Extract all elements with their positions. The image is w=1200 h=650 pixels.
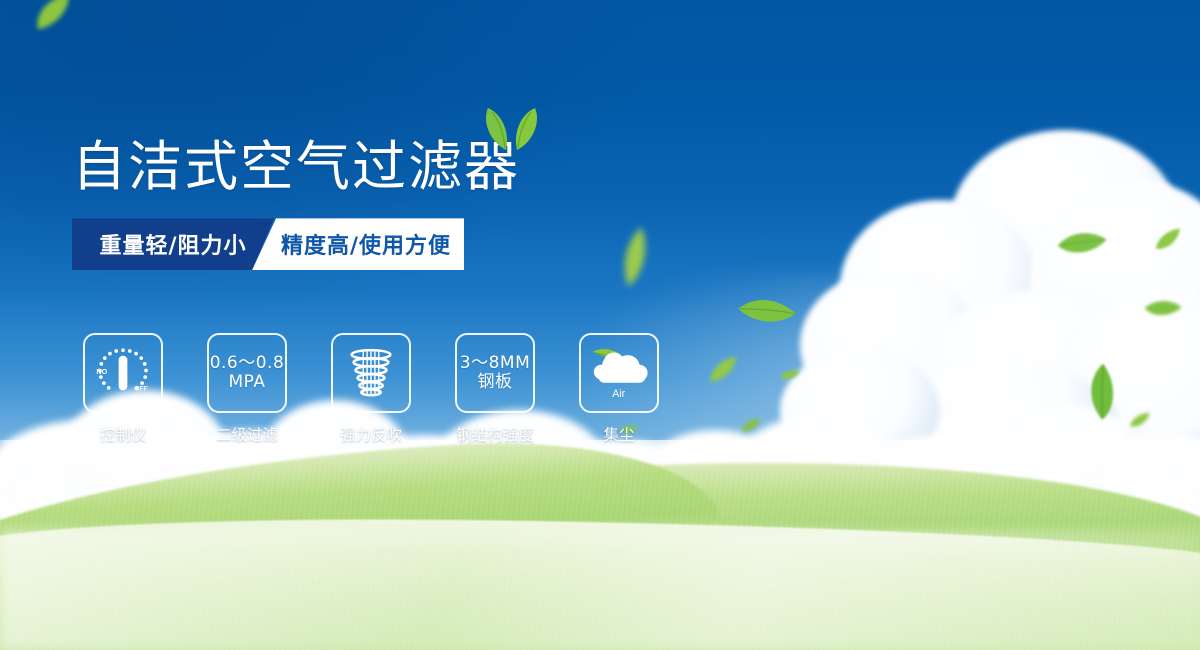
feature-item-blowback: 强力反吹 xyxy=(322,333,420,445)
feature-box: 0.6～0.8 MPA xyxy=(207,333,287,413)
badge-lightweight-low-resistance: 重量轻/阻力小 xyxy=(72,218,274,270)
sprout-leaves-icon xyxy=(476,106,546,150)
feature-box: Air xyxy=(579,333,659,413)
air-cloud-icon: Air xyxy=(585,342,653,404)
feature-item-controller: NO OFF 控制仪 xyxy=(74,333,172,445)
tagline-badges: 重量轻/阻力小 精度高/使用方便 xyxy=(72,218,464,270)
feature-item-steel-strength: 3～8MM 钢板 钢结构强度 xyxy=(446,333,544,445)
grass-field xyxy=(0,440,1200,650)
pressure-text-icon: 0.6～0.8 MPA xyxy=(210,354,285,392)
page-title: 自洁式空气过滤器 xyxy=(72,138,732,196)
badge-light-label: 精度高/使用方便 xyxy=(281,228,451,260)
air-caption: Air xyxy=(612,388,625,400)
banner-content: 自洁式空气过滤器 重量轻/阻力小 精度高/使用方便 xyxy=(72,138,732,270)
feature-list: NO OFF 控制仪 0.6～0.8 MPA 二级过滤 xyxy=(74,333,668,445)
floating-leaf xyxy=(739,417,762,433)
product-banner: 自洁式空气过滤器 重量轻/阻力小 精度高/使用方便 xyxy=(0,0,1200,650)
feature-box: 3～8MM 钢板 xyxy=(455,333,535,413)
feature-label: 集尘 xyxy=(603,423,634,445)
feature-item-secondary-filtration: 0.6～0.8 MPA 二级过滤 xyxy=(198,333,296,445)
svg-text:NO: NO xyxy=(96,367,107,376)
feature-label: 二级过滤 xyxy=(216,423,278,445)
coil-blowback-icon xyxy=(340,342,402,404)
svg-text:OFF: OFF xyxy=(134,385,148,392)
feature-label: 钢结构强度 xyxy=(456,423,534,445)
grass-texture xyxy=(0,440,1200,650)
pressure-range: 0.6～0.8 xyxy=(210,353,285,373)
feature-label: 控制仪 xyxy=(100,423,147,445)
pressure-unit: MPA xyxy=(210,373,285,392)
feature-box xyxy=(331,333,411,413)
badge-high-precision-easy-use: 精度高/使用方便 xyxy=(252,218,464,270)
steel-thickness: 3～8MM xyxy=(460,353,530,373)
feature-box: NO OFF xyxy=(83,333,163,413)
gauge-icon: NO OFF xyxy=(92,342,154,404)
floating-leaf xyxy=(779,367,801,383)
steel-plate-text-icon: 3～8MM 钢板 xyxy=(460,354,530,392)
badge-dark-label: 重量轻/阻力小 xyxy=(99,228,246,260)
feature-item-dust-collection: Air 集尘 xyxy=(570,333,668,445)
steel-material: 钢板 xyxy=(460,373,530,392)
feature-label: 强力反吹 xyxy=(340,423,402,445)
